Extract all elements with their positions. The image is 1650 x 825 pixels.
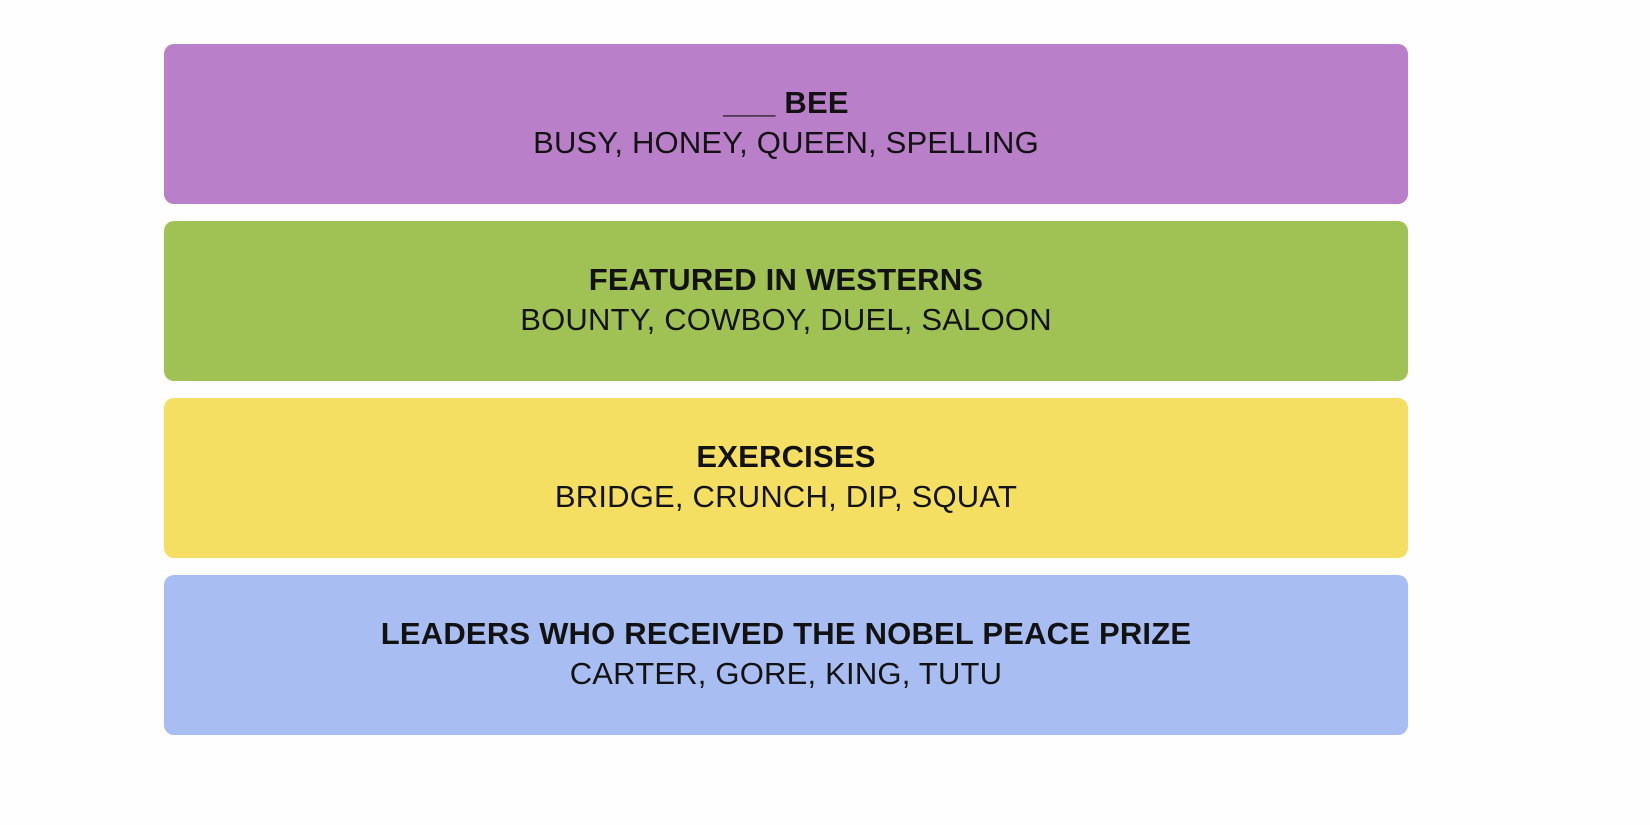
category-card-green: FEATURED IN WESTERNS BOUNTY, COWBOY, DUE… <box>164 221 1408 381</box>
category-title: LEADERS WHO RECEIVED THE NOBEL PEACE PRI… <box>381 616 1191 652</box>
category-words: BRIDGE, CRUNCH, DIP, SQUAT <box>555 478 1017 517</box>
category-words: BUSY, HONEY, QUEEN, SPELLING <box>533 124 1039 163</box>
category-title: ___ BEE <box>723 85 848 121</box>
category-words: BOUNTY, COWBOY, DUEL, SALOON <box>520 301 1052 340</box>
category-title: EXERCISES <box>696 439 875 475</box>
category-title: FEATURED IN WESTERNS <box>589 262 983 298</box>
category-card-blue: LEADERS WHO RECEIVED THE NOBEL PEACE PRI… <box>164 575 1408 735</box>
category-words: CARTER, GORE, KING, TUTU <box>570 655 1003 694</box>
connections-solution-board: ___ BEE BUSY, HONEY, QUEEN, SPELLING FEA… <box>164 44 1408 735</box>
category-card-purple: ___ BEE BUSY, HONEY, QUEEN, SPELLING <box>164 44 1408 204</box>
category-card-yellow: EXERCISES BRIDGE, CRUNCH, DIP, SQUAT <box>164 398 1408 558</box>
